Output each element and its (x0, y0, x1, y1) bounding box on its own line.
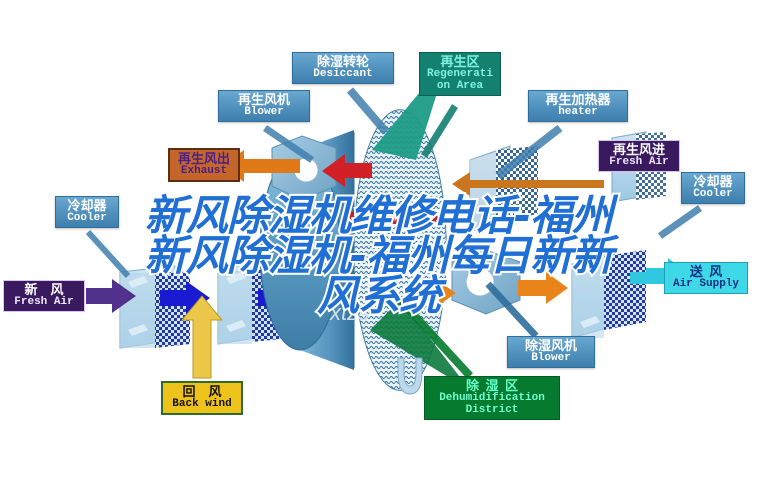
label-dehumidify-blower: 除湿风机Blower (507, 336, 595, 368)
label-cn: 冷却器 (686, 175, 740, 189)
label-regeneration-heater: 再生加热器heater (528, 90, 628, 122)
label-back-wind: 回 风Back wind (161, 381, 243, 415)
label-cn: 再生风进 (603, 143, 675, 157)
label-en: Dehumidification District (429, 393, 555, 417)
label-cn: 再生风机 (223, 93, 305, 107)
label-en: heater (533, 107, 623, 119)
label-regeneration-inlet: 再生风进Fresh Air (598, 140, 680, 172)
label-cn: 除 湿 区 (429, 379, 555, 393)
label-cn: 再生风出 (174, 152, 234, 166)
label-dehumidify-area: 除 湿 区Dehumidification District (424, 376, 560, 420)
label-en: Back wind (167, 399, 237, 411)
overlay-line-1: 新风除湿机维修电话-福州 (0, 196, 757, 236)
overlay-line-2: 新风除湿机-福州每日新新 (0, 236, 757, 276)
label-cn: 除湿风机 (512, 339, 590, 353)
label-regeneration-exhaust: 再生风出Exhaust (168, 148, 240, 182)
label-desiccant-wheel: 除湿转轮Desiccant (292, 52, 394, 84)
label-en: Regenerati on Area (424, 69, 496, 93)
label-regeneration-blower: 再生风机Blower (218, 90, 310, 122)
label-en: Exhaust (174, 166, 234, 178)
label-cn: 再生区 (424, 55, 496, 69)
label-cn: 回 风 (167, 385, 237, 399)
label-en: Blower (512, 353, 590, 365)
overlay-title: 新风除湿机维修电话-福州 新风除湿机-福州每日新新 风系统 (0, 196, 757, 316)
label-en: Fresh Air (603, 157, 675, 169)
overlay-line-3: 风系统 (0, 276, 757, 316)
dehumidifier-system-diagram: xtzs 除湿转轮Desiccant再生风机Blower再生区Regenerat… (0, 0, 757, 488)
label-cn: 再生加热器 (533, 93, 623, 107)
label-cn: 除湿转轮 (297, 55, 389, 69)
label-en: Blower (223, 107, 305, 119)
label-regeneration-area: 再生区Regenerati on Area (419, 52, 501, 96)
label-en: Desiccant (297, 69, 389, 81)
